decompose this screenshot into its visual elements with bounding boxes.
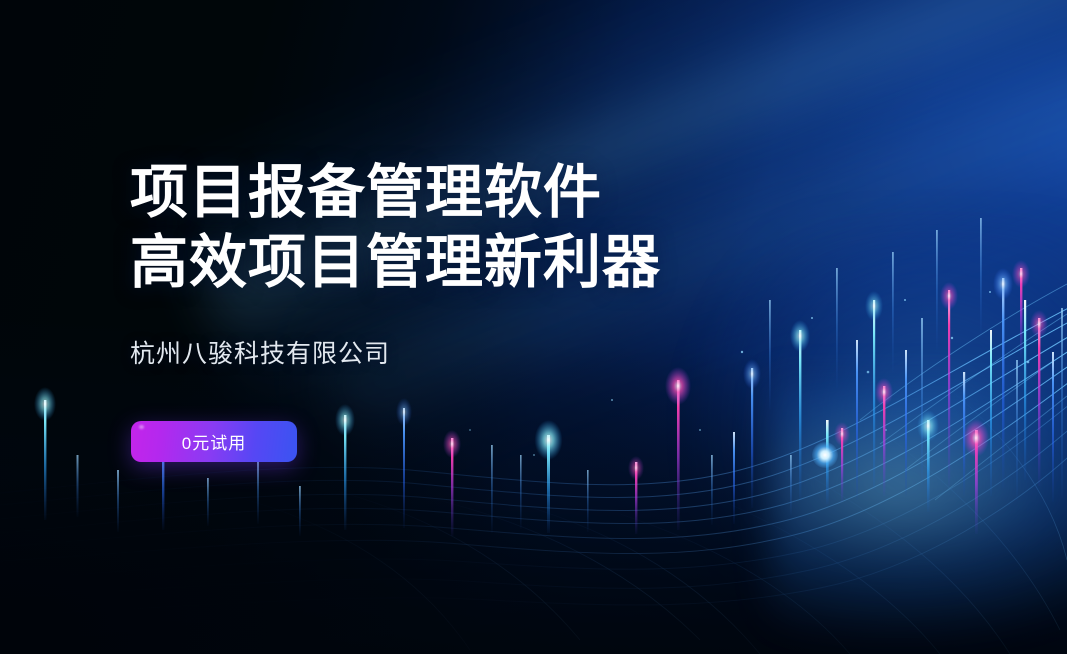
hero-banner: 项目报备管理软件 高效项目管理新利器 杭州八骏科技有限公司 0元试用 [0, 0, 1067, 654]
light-beams [0, 0, 1067, 654]
headline-line-2: 高效项目管理新利器 [130, 228, 661, 298]
company-name: 杭州八骏科技有限公司 [130, 337, 390, 371]
headline-line-1: 项目报备管理软件 [130, 158, 602, 228]
bright-hotspot [812, 442, 838, 468]
free-trial-button[interactable]: 0元试用 [131, 421, 297, 462]
